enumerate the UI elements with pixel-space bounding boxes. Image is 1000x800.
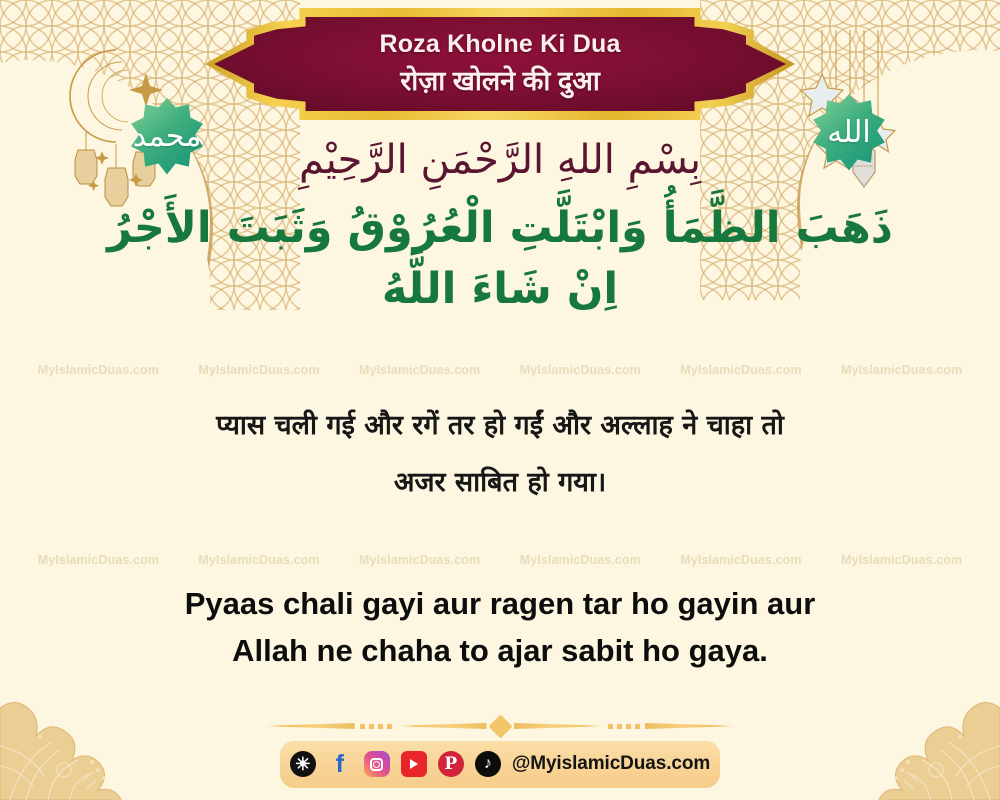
instagram-icon[interactable] [364, 751, 390, 777]
tiktok-icon[interactable]: ♪ [475, 751, 501, 777]
social-handle[interactable]: @MyislamicDuas.com [512, 753, 710, 775]
dua-poster: Roza Kholne Ki Dua रोज़ा खोलने की दुआ مح… [0, 0, 1000, 800]
watermark-text: MyIslamicDuas.com [38, 363, 159, 377]
watermark-text: MyIslamicDuas.com [198, 553, 319, 567]
header-banner: Roza Kholne Ki Dua रोज़ा खोलने की दुआ [205, 8, 795, 120]
transliteration-line-1: Pyaas chali gayi aur ragen tar ho gayin … [70, 580, 930, 627]
watermark-text: MyIslamicDuas.com [359, 363, 480, 377]
watermark-text: MyIslamicDuas.com [198, 363, 319, 377]
hindi-line-1: प्यास चली गई और रगें तर हो गईं और अल्लाह… [60, 398, 940, 455]
hindi-translation: प्यास चली गई और रगें तर हो गईं और अल्लाह… [60, 398, 940, 511]
banner-title-english: Roza Kholne Ki Dua [379, 30, 620, 59]
watermark-text: MyIslamicDuas.com [680, 553, 801, 567]
bismillah-calligraphy: بِسْمِ اللهِ الرَّحْمَنِ الرَّحِيْمِ [0, 140, 1000, 180]
divider-bar-right [645, 723, 735, 729]
divider-bar-left [265, 723, 355, 729]
watermark-text: MyIslamicDuas.com [680, 363, 801, 377]
facebook-icon[interactable]: f [327, 751, 353, 777]
globe-icon[interactable]: ☀ [290, 751, 316, 777]
footer-social-bar: ☀ f P ♪ @MyislamicDuas.com [280, 740, 720, 788]
youtube-icon[interactable] [401, 751, 427, 777]
divider-diamond-icon [488, 714, 512, 738]
watermark-text: MyIslamicDuas.com [841, 363, 962, 377]
divider-dashes-right [608, 724, 640, 729]
watermark-row-bottom: MyIslamicDuas.com MyIslamicDuas.com MyIs… [0, 553, 1000, 567]
watermark-text: MyIslamicDuas.com [520, 363, 641, 377]
arabic-line-1: ذَهَبَ الظَّمَأُ وَابْتَلَّتِ الْعُرُوْق… [40, 198, 960, 259]
arabic-dua-text: ذَهَبَ الظَّمَأُ وَابْتَلَّتِ الْعُرُوْق… [40, 198, 960, 320]
arabic-line-2: اِنْ شَاءَ اللَّهُ [40, 259, 960, 320]
divider-dashes-left [360, 724, 392, 729]
floral-corner-right [800, 650, 1000, 800]
youtube-play-triangle [410, 759, 418, 769]
watermark-row-top: MyIslamicDuas.com MyIslamicDuas.com MyIs… [0, 363, 1000, 377]
watermark-text: MyIslamicDuas.com [359, 553, 480, 567]
instagram-camera-ring [370, 758, 383, 771]
banner-title-hindi: रोज़ा खोलने की दुआ [400, 61, 600, 98]
watermark-text: MyIslamicDuas.com [38, 553, 159, 567]
ornamental-divider [265, 716, 735, 736]
hindi-line-2: अजर साबित हो गया। [60, 455, 940, 512]
watermark-text: MyIslamicDuas.com [841, 553, 962, 567]
watermark-text: MyIslamicDuas.com [520, 553, 641, 567]
divider-bar-right-inner [514, 723, 604, 729]
divider-bar-left-inner [397, 723, 487, 729]
banner-body: Roza Kholne Ki Dua रोज़ा खोलने की दुआ [214, 17, 786, 111]
floral-corner-left [0, 650, 200, 800]
pinterest-icon[interactable]: P [438, 751, 464, 777]
